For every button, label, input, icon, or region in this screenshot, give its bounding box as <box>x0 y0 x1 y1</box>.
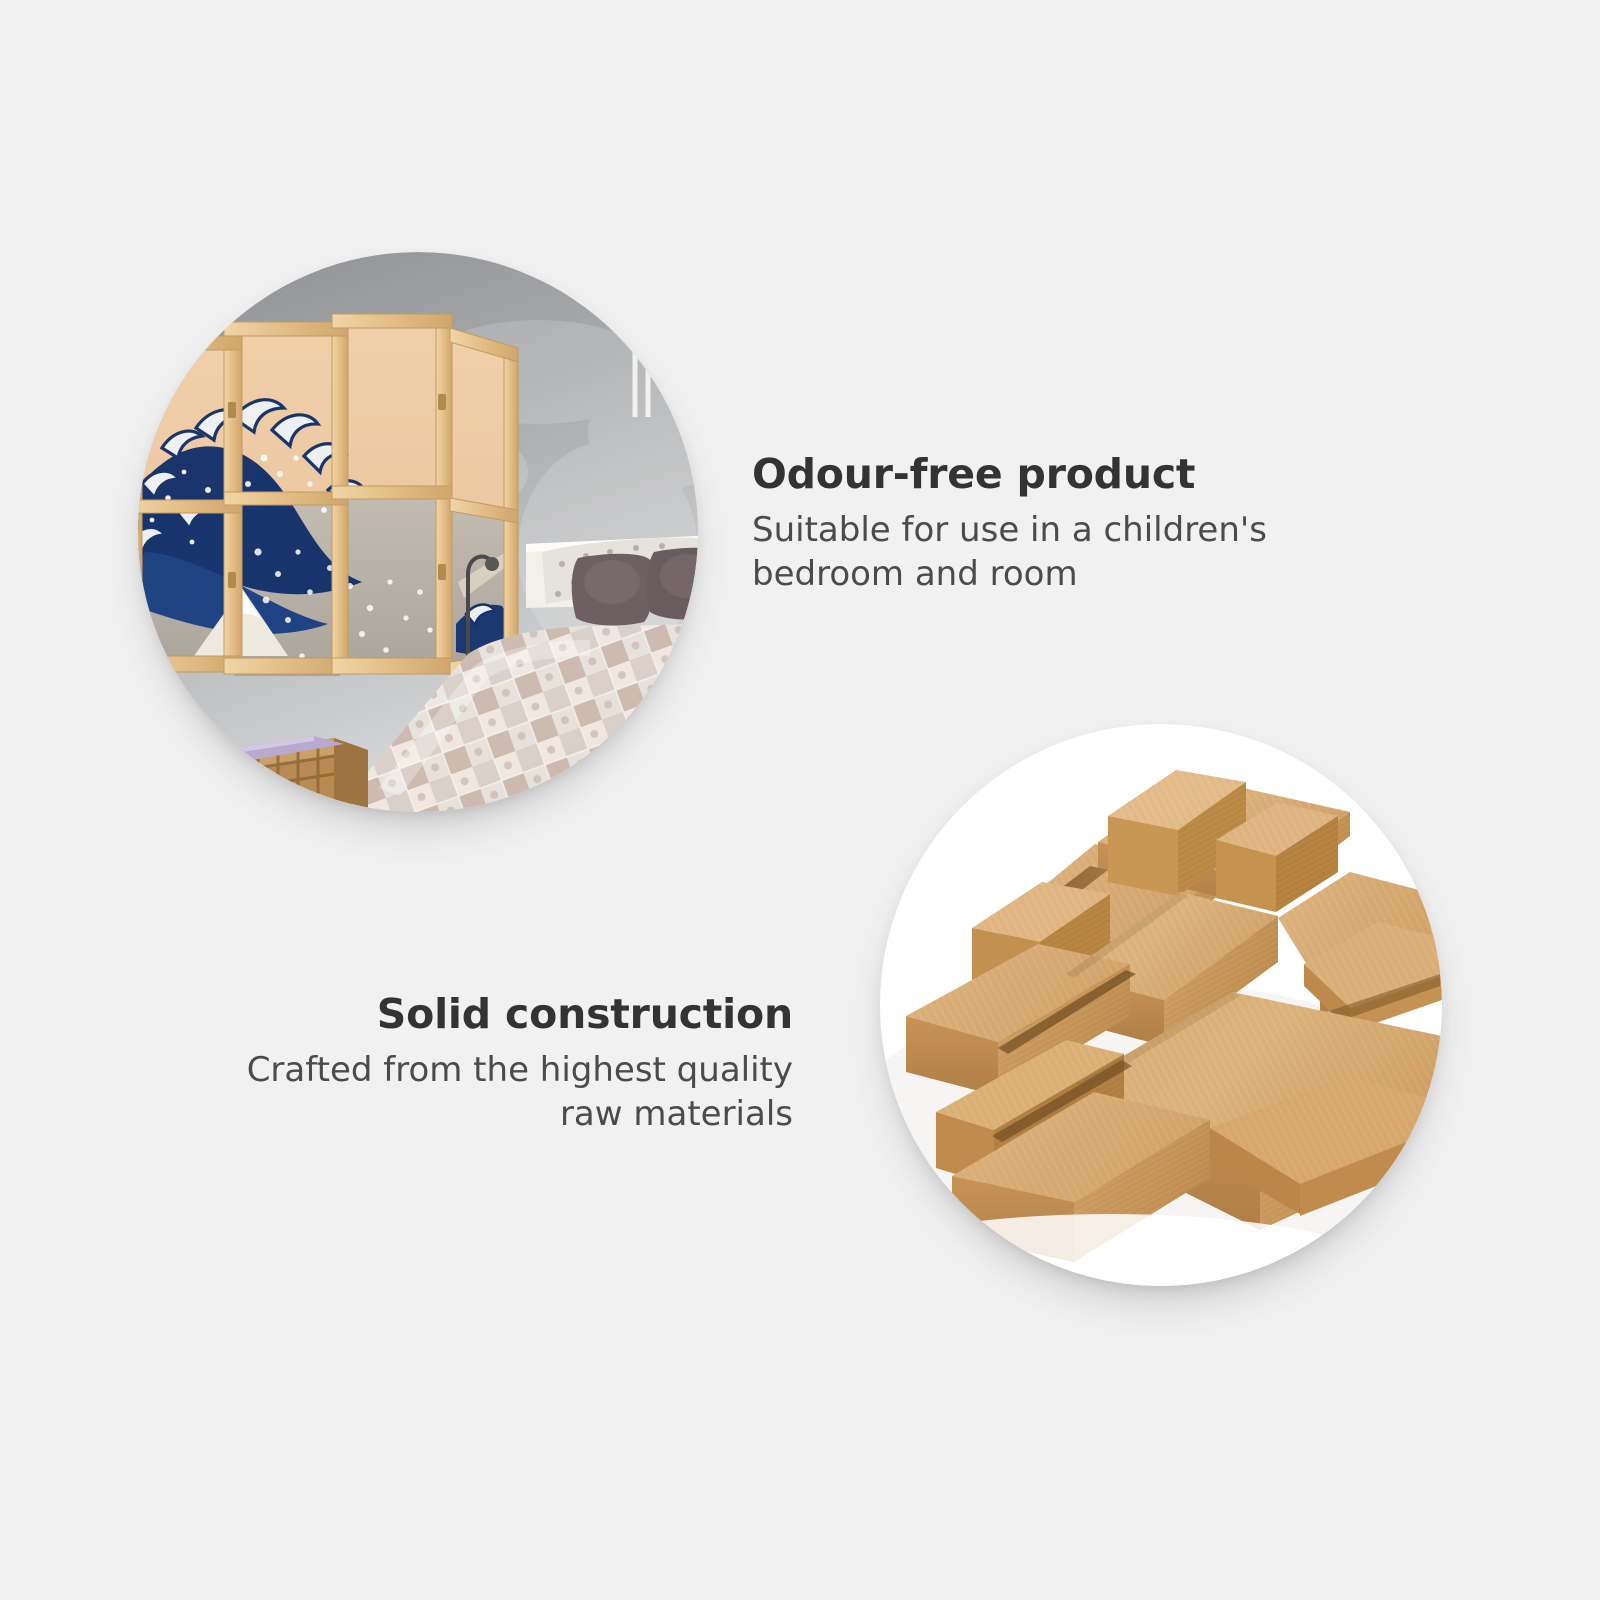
feature-description-solid-construction: Crafted from the highest quality raw mat… <box>233 1048 793 1136</box>
feature-text-solid-construction: Solid construction Crafted from the high… <box>233 992 793 1136</box>
feature-title-solid-construction: Solid construction <box>233 992 793 1038</box>
feature-title-odour-free: Odour-free product <box>752 452 1272 498</box>
product-feature-graphic: Odour-free product Suitable for use in a… <box>0 0 1600 1600</box>
feature-text-odour-free: Odour-free product Suitable for use in a… <box>752 452 1272 596</box>
feature-image-wooden-planks <box>880 724 1442 1286</box>
feature-description-odour-free: Suitable for use in a children's bedroom… <box>752 508 1272 596</box>
wooden-planks-illustration <box>880 724 1442 1286</box>
feature-image-bedroom <box>138 252 698 812</box>
bedroom-scene-illustration <box>138 252 698 812</box>
